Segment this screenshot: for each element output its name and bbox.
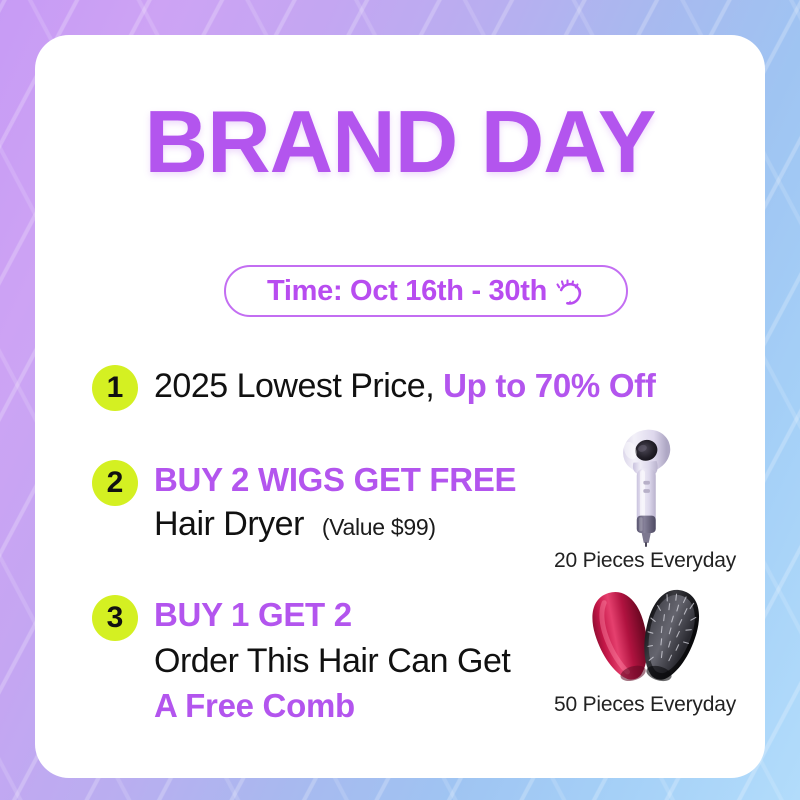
offer-row: 2 BUY 2 WIGS GET FREE Hair Dryer (Value … <box>92 460 516 544</box>
offer-number-badge: 3 <box>92 595 138 641</box>
offer-text-space <box>434 367 443 405</box>
promo-banner: BRAND DAY Time: Oct 16th - 30th <box>0 0 800 800</box>
page-title: BRAND DAY <box>35 98 765 186</box>
offer-line: Hair Dryer (Value $99) <box>154 504 516 544</box>
offer-line: BUY 1 GET 2 <box>154 596 510 635</box>
offer-line: Order This Hair Can Get <box>154 641 510 681</box>
time-badge: Time: Oct 16th - 30th <box>224 265 628 317</box>
offer-line: 2025 Lowest Price, Up to 70% Off <box>154 366 656 406</box>
promo-card: BRAND DAY Time: Oct 16th - 30th <box>35 35 765 778</box>
product-block-hair-combs: 50 Pieces Everyday <box>529 583 761 717</box>
offer-line: A Free Comb <box>154 687 510 726</box>
offer-line: BUY 2 WIGS GET FREE <box>154 461 516 500</box>
offer-text-space <box>304 505 322 543</box>
offer-text-segment: Hair Dryer <box>154 505 304 543</box>
offer-number-badge: 2 <box>92 460 138 506</box>
offer-row: 3 BUY 1 GET 2 Order This Hair Can Get A … <box>92 595 510 726</box>
offer-text: 2025 Lowest Price, Up to 70% Off <box>154 365 656 406</box>
offer-highlight-segment: Up to 70% Off <box>443 367 655 404</box>
offer-row: 1 2025 Lowest Price, Up to 70% Off <box>92 365 656 411</box>
product-caption: 50 Pieces Everyday <box>529 693 761 717</box>
stopwatch-icon <box>551 275 585 309</box>
time-badge-label: Time: Oct 16th - 30th <box>267 276 547 306</box>
product-caption: 20 Pieces Everyday <box>529 549 761 573</box>
offer-value-note: (Value $99) <box>322 514 436 540</box>
offer-text: BUY 2 WIGS GET FREE Hair Dryer (Value $9… <box>154 460 516 544</box>
hair-combs-icon <box>529 583 761 691</box>
offer-text-segment: 2025 Lowest Price, <box>154 367 434 405</box>
offer-number-badge: 1 <box>92 365 138 411</box>
hair-dryer-icon <box>529 423 761 547</box>
product-block-hair-dryer: 20 Pieces Everyday <box>529 423 761 573</box>
offer-text: BUY 1 GET 2 Order This Hair Can Get A Fr… <box>154 595 510 726</box>
